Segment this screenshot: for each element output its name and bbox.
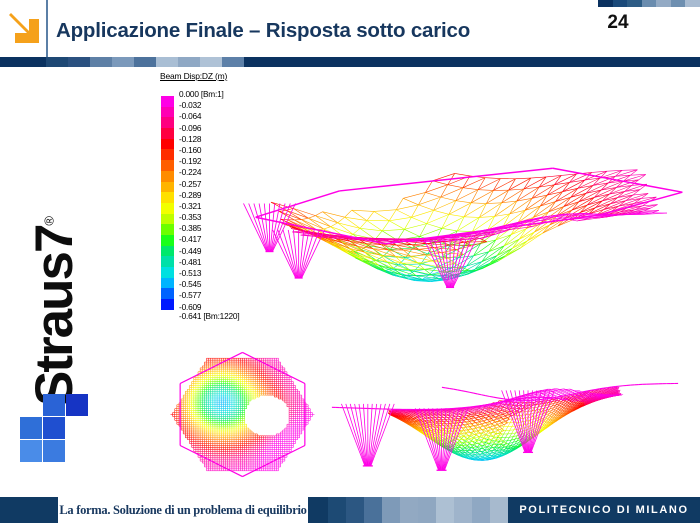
legend-colorbar [161,96,174,310]
fe-results-viewport: Straus7® Beam Disp:DZ (m) 0.000 [Bm:1]-0… [0,67,700,491]
legend-swatch [161,224,174,235]
gridshell-elevation-view [315,339,695,491]
legend-swatch [161,107,174,118]
page-number: 24 [600,12,636,34]
legend-swatch [161,246,174,257]
straus7-watermark: Straus7® [22,222,86,462]
header-divider [46,0,48,57]
legend-swatch [161,117,174,128]
legend-swatch [161,128,174,139]
page-title: Applicazione Finale – Risposta sotto car… [56,16,470,46]
gridshell-plan-view [155,342,330,487]
slide-footer: La forma. Soluzione di un problema di eq… [0,495,700,525]
footer-caption-box: La forma. Soluzione di un problema di eq… [58,497,308,523]
legend-swatch [161,203,174,214]
legend-swatch [161,149,174,160]
legend-swatch [161,160,174,171]
legend-swatch [161,278,174,289]
legend-swatch [161,256,174,267]
arrow-down-right-icon [8,10,42,48]
legend-swatch [161,267,174,278]
slide: Applicazione Finale – Risposta sotto car… [0,0,700,525]
footer-caption: La forma. Soluzione di un problema di eq… [59,503,306,518]
straus7-wordmark: Straus7® [28,218,81,406]
header-top-accent-band [598,0,700,7]
legend-swatch [161,288,174,299]
legend-swatch [161,96,174,107]
legend-swatch [161,192,174,203]
footer-institution-block: POLITECNICO DI MILANO [508,497,700,523]
footer-left-block [0,497,58,523]
straus7-logo-squares-icon [20,412,88,462]
legend-swatch [161,214,174,225]
header-band [0,57,700,67]
legend-swatch [161,182,174,193]
legend-swatch [161,139,174,150]
legend-swatch [161,299,174,310]
legend-swatch [161,171,174,182]
footer-institution: POLITECNICO DI MILANO [519,504,688,516]
gridshell-perspective-view [230,67,700,337]
legend-swatch [161,235,174,246]
